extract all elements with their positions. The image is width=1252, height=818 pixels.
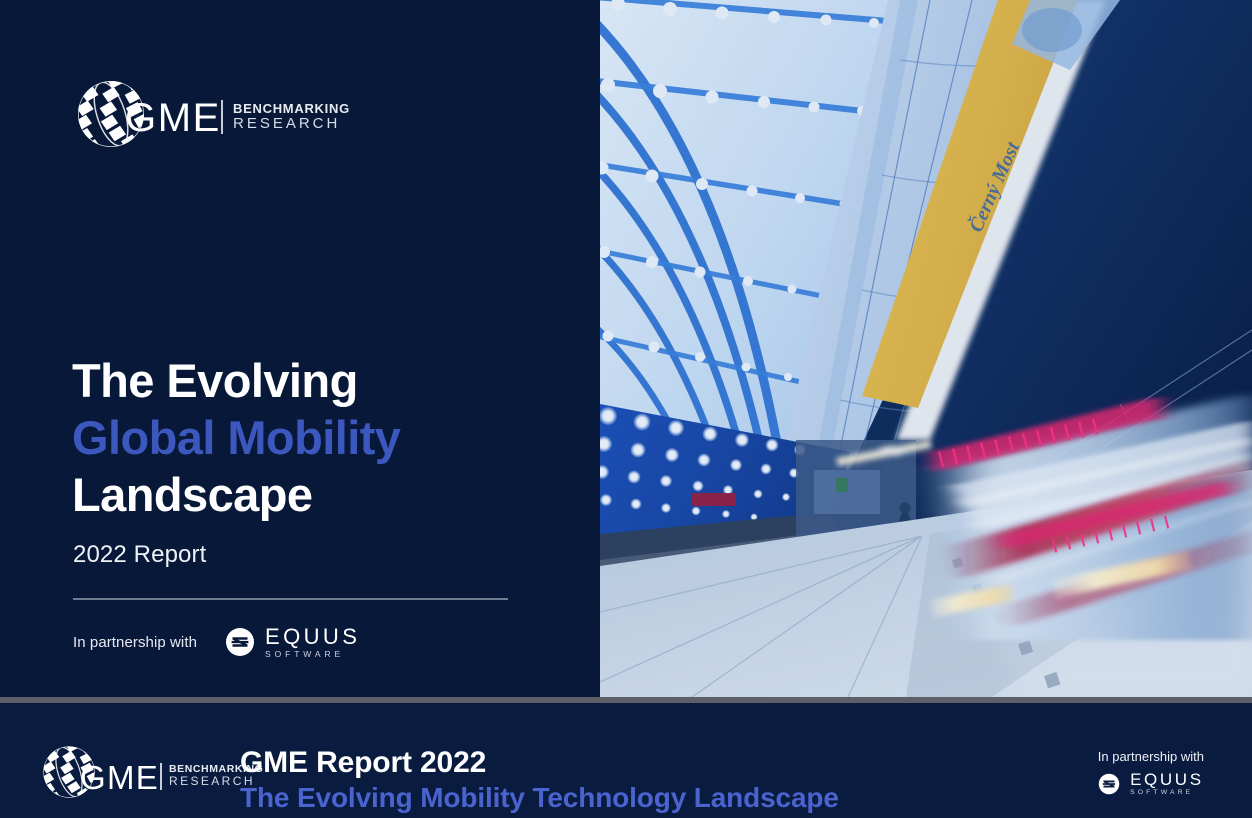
gme-logo-divider: [221, 100, 223, 134]
equus-sub: SOFTWARE: [265, 650, 360, 659]
gme-tagline-line2: RESEARCH: [233, 116, 350, 132]
equus-sub: SOFTWARE: [1130, 790, 1204, 797]
footer-bar: GME BENCHMARKING RESEARCH GME Report 202…: [0, 703, 1252, 818]
partnership-label: In partnership with: [1098, 749, 1204, 764]
hero-photo: Černý Most: [600, 0, 1252, 697]
headline-line-2: Global Mobility: [72, 409, 572, 466]
footer-title-block: GME Report 2022 The Evolving Mobility Te…: [240, 745, 839, 815]
footer-title: GME Report 2022: [240, 745, 839, 781]
headline-line-1: The Evolving: [72, 352, 572, 409]
headline-line-3: Landscape: [72, 466, 572, 523]
gme-tagline: BENCHMARKING RESEARCH: [233, 102, 350, 132]
equus-circle-mark-icon: [1098, 773, 1120, 795]
equus-logo-cover: EQUUS SOFTWARE: [225, 626, 360, 659]
page-title: The Evolving Global Mobility Landscape: [72, 352, 572, 523]
page-subtitle: 2022 Report: [73, 541, 206, 569]
section-divider: [73, 598, 508, 600]
equus-logo-footer: EQUUS SOFTWARE: [1098, 771, 1204, 797]
gme-tagline-line1: BENCHMARKING: [233, 102, 350, 116]
partnership-label: In partnership with: [73, 634, 197, 651]
gme-logo-footer: GME BENCHMARKING RESEARCH: [38, 744, 206, 800]
equus-name: EQUUS: [265, 626, 360, 648]
gme-wordmark: GME: [80, 761, 159, 794]
partnership-row: In partnership with EQUUS SOFTWARE: [73, 626, 360, 659]
equus-circle-mark-icon: [225, 627, 255, 657]
gme-wordmark: GME: [125, 98, 221, 138]
equus-name: EQUUS: [1130, 771, 1204, 788]
gme-logo-divider: [160, 763, 162, 790]
report-cover-page: Černý Most: [0, 0, 1252, 818]
footer-subtitle: The Evolving Mobility Technology Landsca…: [240, 781, 839, 815]
cover-left-panel: GME BENCHMARKING RESEARCH The Evolving G…: [0, 0, 600, 697]
cover-slide: Černý Most: [0, 0, 1252, 697]
footer-partnership: In partnership with EQUUS SOFTWARE: [1098, 749, 1204, 797]
gme-logo-cover: GME BENCHMARKING RESEARCH: [73, 78, 269, 150]
